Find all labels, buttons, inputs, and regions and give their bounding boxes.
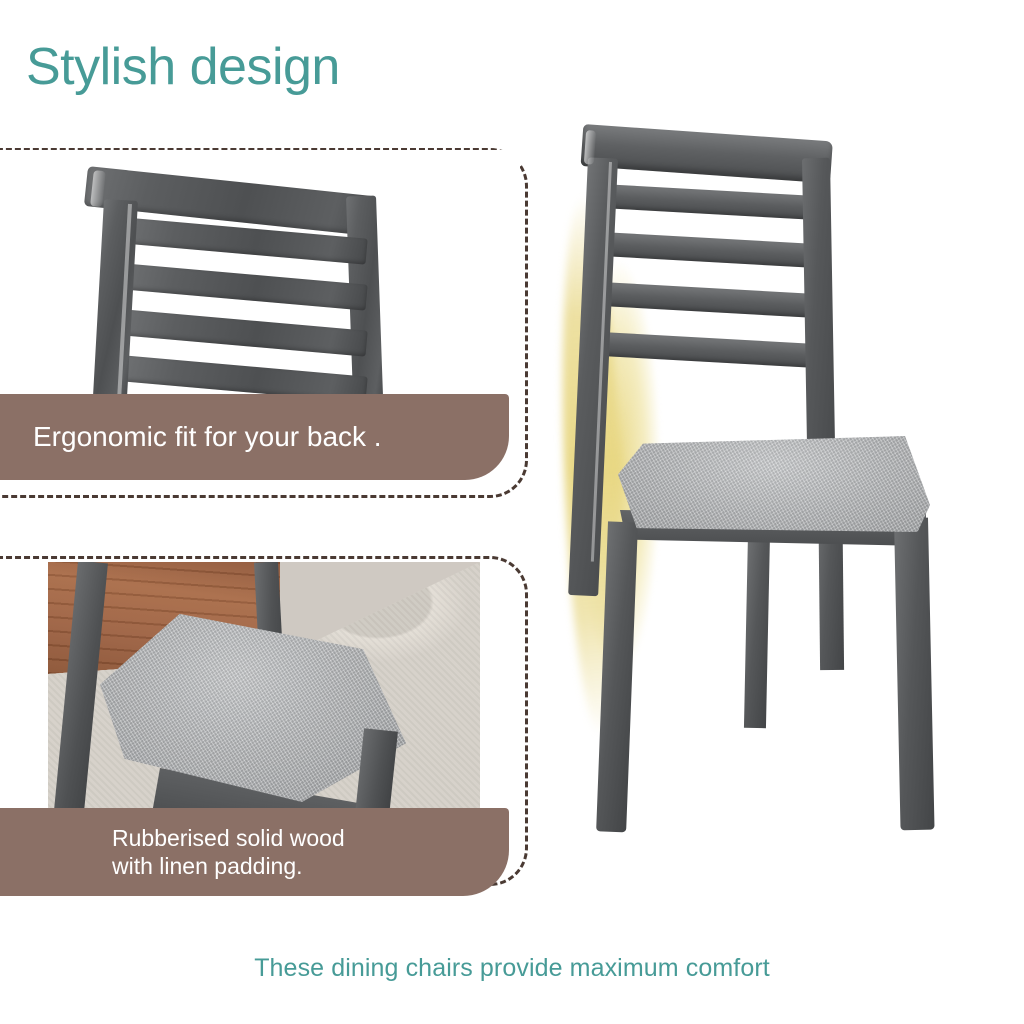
callout-caption-ergonomic: Ergonomic fit for your back . bbox=[0, 394, 509, 480]
closeup-back-slat bbox=[121, 263, 367, 310]
chair-seat-cushion bbox=[618, 436, 930, 532]
chair-leg-back-left bbox=[744, 534, 770, 728]
hero-chair-illustration bbox=[556, 118, 1002, 824]
chair-leg-front-right bbox=[894, 518, 935, 831]
closeup-back-slat bbox=[121, 309, 367, 356]
caption-line-2: with linen padding. bbox=[112, 852, 345, 880]
callout-caption-materials: Rubberised solid wood with linen padding… bbox=[0, 808, 509, 896]
chair-back-post-right bbox=[802, 158, 836, 478]
footer-tagline: These dining chairs provide maximum comf… bbox=[0, 952, 1024, 984]
caption-line-1: Rubberised solid wood bbox=[112, 825, 345, 851]
callout-photo-chair-back bbox=[0, 150, 520, 400]
product-feature-image: Stylish design Ergonomic fit fo bbox=[0, 0, 1024, 1024]
page-title: Stylish design bbox=[26, 36, 340, 98]
callout-photo-chair-seat bbox=[48, 562, 480, 820]
callout-caption-ergonomic-text: Ergonomic fit for your back . bbox=[33, 420, 382, 454]
callout-caption-materials-text: Rubberised solid wood with linen padding… bbox=[112, 824, 345, 880]
chair-top-rail bbox=[581, 124, 833, 183]
